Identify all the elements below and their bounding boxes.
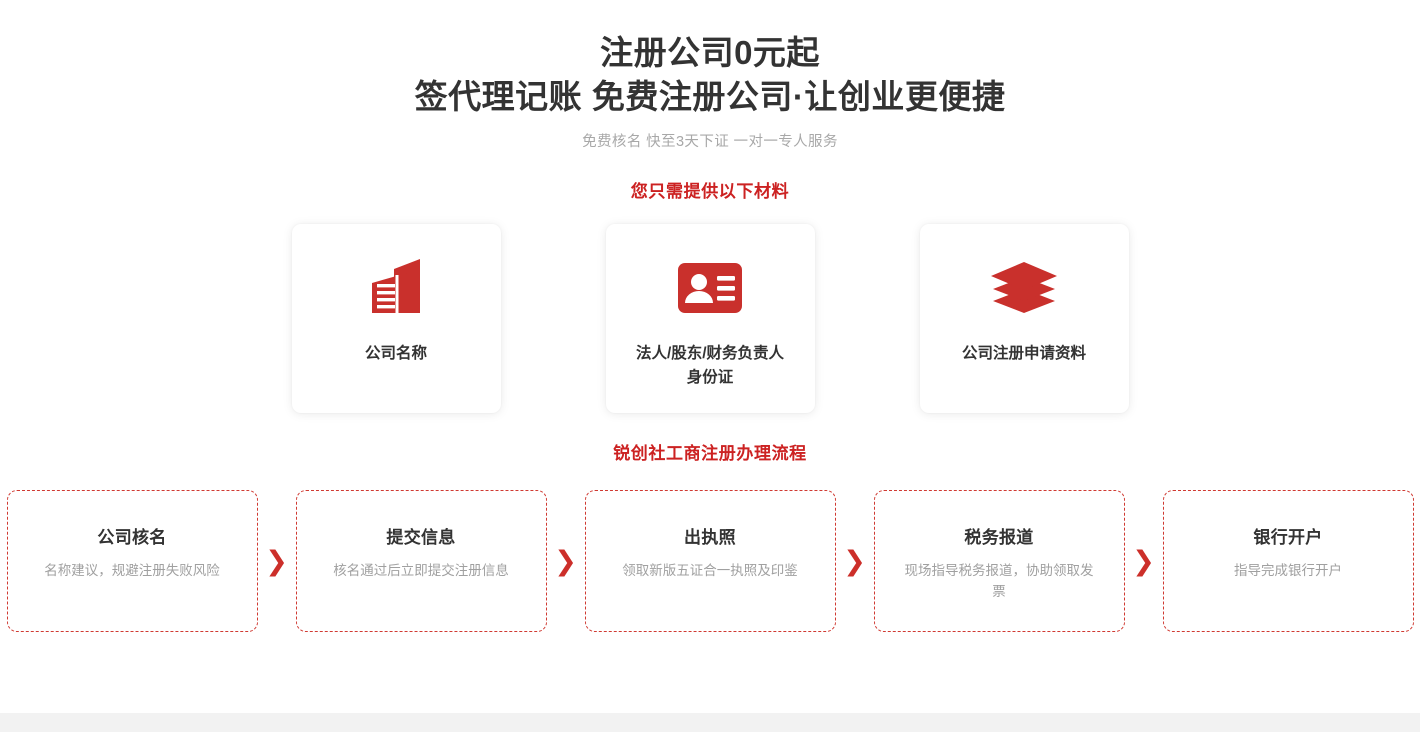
process-step[interactable]: 银行开户 指导完成银行开户	[1163, 490, 1414, 632]
materials-section-title: 您只需提供以下材料	[0, 177, 1420, 202]
process-step-title: 银行开户	[1253, 523, 1322, 548]
chevron-right-icon: ❯	[258, 548, 296, 575]
material-card-label: 公司名称	[306, 342, 486, 366]
process-section-title: 锐创社工商注册办理流程	[0, 439, 1420, 464]
hero-subtitle: 免费核名 快至3天下证 一对一专人服务	[0, 130, 1420, 151]
building-icon	[364, 256, 428, 320]
chevron-right-icon: ❯	[836, 548, 874, 575]
process-step-title: 出执照	[684, 523, 736, 548]
process-flow: 公司核名 名称建议，规避注册失败风险 ❯ 提交信息 核名通过后立即提交注册信息 …	[0, 490, 1420, 632]
material-card[interactable]: 公司注册申请资料	[920, 224, 1129, 413]
bottom-divider-band	[0, 713, 1420, 732]
material-card-label: 公司注册申请资料	[934, 342, 1114, 366]
hero-headline-line1: 注册公司0元起	[0, 32, 1420, 74]
process-step[interactable]: 公司核名 名称建议，规避注册失败风险	[7, 490, 258, 632]
process-step-title: 提交信息	[386, 523, 455, 548]
chevron-right-icon: ❯	[1125, 548, 1163, 575]
chevron-right-icon: ❯	[547, 548, 585, 575]
process-step-description: 名称建议，规避注册失败风险	[37, 561, 227, 582]
landing-page: 注册公司0元起 签代理记账 免费注册公司·让创业更便捷 免费核名 快至3天下证 …	[0, 0, 1420, 732]
materials-card-list: 公司名称 法人/股东/财务负责人 身份证	[0, 224, 1420, 413]
process-step-description: 指导完成银行开户	[1193, 561, 1383, 582]
process-step-description: 领取新版五证合一执照及印鉴	[615, 561, 805, 582]
layers-icon	[989, 256, 1059, 320]
id-card-icon	[677, 256, 743, 320]
hero-headline-line2: 签代理记账 免费注册公司·让创业更便捷	[0, 76, 1420, 118]
material-card-label: 法人/股东/财务负责人 身份证	[620, 342, 800, 390]
material-card[interactable]: 公司名称	[292, 224, 501, 413]
process-step-description: 核名通过后立即提交注册信息	[326, 561, 516, 582]
process-step-title: 公司核名	[97, 523, 166, 548]
hero-section: 注册公司0元起 签代理记账 免费注册公司·让创业更便捷 免费核名 快至3天下证 …	[0, 0, 1420, 151]
process-step-title: 税务报道	[964, 523, 1033, 548]
process-step[interactable]: 税务报道 现场指导税务报道，协助领取发票	[874, 490, 1125, 632]
material-card[interactable]: 法人/股东/财务负责人 身份证	[606, 224, 815, 413]
process-step-description: 现场指导税务报道，协助领取发票	[904, 561, 1094, 603]
process-step[interactable]: 提交信息 核名通过后立即提交注册信息	[296, 490, 547, 632]
process-step[interactable]: 出执照 领取新版五证合一执照及印鉴	[585, 490, 836, 632]
